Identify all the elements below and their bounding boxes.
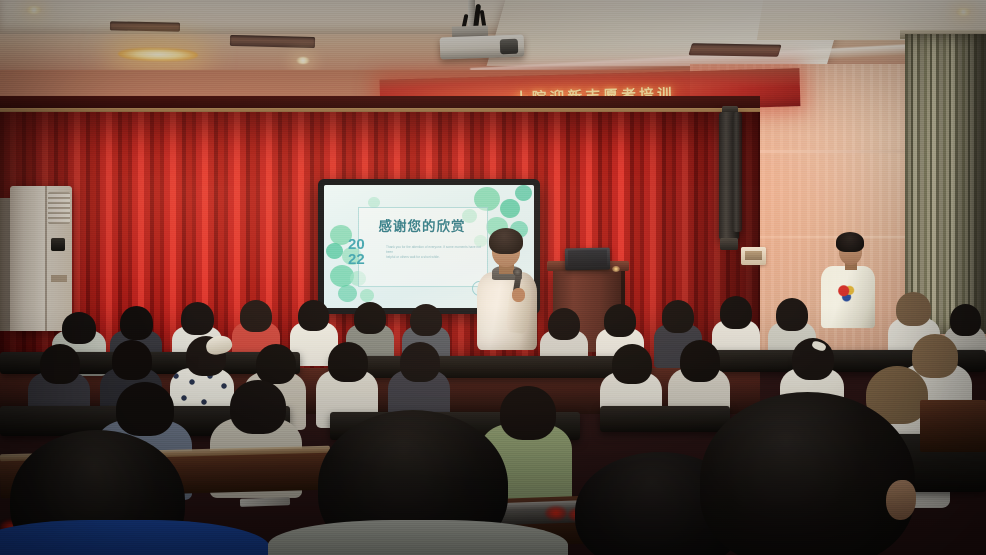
audience-head	[950, 304, 981, 336]
bench-mid	[600, 406, 730, 432]
window-drape-shadow	[953, 34, 986, 334]
audience-head	[548, 308, 580, 340]
air-conditioner-control-panel[interactable]	[51, 238, 65, 251]
pen-on-desk-left[interactable]	[240, 497, 290, 507]
bench-back	[330, 356, 650, 378]
slide-year-top: 20	[348, 237, 382, 252]
slide-body-line-2: helpful or others wait for a short while…	[386, 255, 482, 260]
bench-desk-right	[920, 400, 986, 452]
leaf-blob	[326, 243, 343, 259]
laptop-screen	[568, 250, 607, 267]
ceiling-trough-left	[110, 21, 180, 31]
audience-head	[40, 344, 80, 384]
downlight-icon	[26, 6, 42, 14]
projector-lens	[500, 39, 519, 55]
ceiling-trough-right	[688, 43, 781, 57]
slide-body-text: Thank you for the attention of everyone.…	[386, 245, 482, 260]
audience-head	[298, 300, 329, 331]
audience-head	[181, 302, 214, 335]
leaf-blob	[360, 289, 374, 302]
audience-head	[354, 302, 386, 334]
foreground-shoulders-center	[268, 520, 568, 555]
audience-head	[604, 304, 636, 337]
presenter-hair	[489, 228, 523, 254]
audience-head-blond	[912, 334, 958, 378]
presenter-hand	[512, 288, 525, 302]
audience-head	[720, 296, 752, 329]
audience-head	[240, 300, 272, 332]
leaf-blob	[500, 199, 520, 218]
foreground-shoulders-left	[0, 520, 270, 555]
audience-head	[776, 298, 808, 331]
audience-head-blond	[896, 292, 931, 326]
audience-head	[120, 306, 153, 340]
lectern-light-glint	[612, 266, 620, 272]
foreground-ear	[886, 480, 916, 520]
slide-body-line-1: Thank you for the attention of everyone.…	[386, 245, 482, 255]
audience-head	[400, 342, 440, 382]
audience-head	[662, 300, 694, 333]
downlight-icon-center	[296, 57, 310, 64]
tshirt-graphic-print	[836, 282, 858, 304]
audience-head	[62, 312, 96, 344]
audience-head	[612, 344, 652, 384]
slide-year-bottom: 22	[348, 252, 382, 267]
audience-head	[112, 340, 152, 380]
audience-head	[116, 382, 174, 436]
ceiling-trough-center	[230, 35, 315, 48]
line-array-speaker-secondary	[733, 112, 742, 232]
audience-head	[230, 380, 286, 434]
audience-head	[256, 344, 296, 384]
air-conditioner-grille	[48, 192, 70, 224]
foreground-head-right	[700, 392, 915, 555]
audience-head	[410, 304, 442, 336]
rail-red-reflection	[545, 506, 567, 520]
downlight-icon-right	[956, 8, 971, 16]
slide-title: 感谢您的欣赏	[364, 215, 480, 235]
audience-head	[328, 342, 368, 382]
air-conditioner-seam	[45, 186, 47, 331]
speaker-bottom-cap	[720, 238, 738, 250]
auditorium-photo: 十院迎新志愿者培训 感谢您的欣赏	[0, 0, 986, 555]
microphone-head	[513, 268, 522, 276]
slide-year: 20 22	[348, 237, 382, 267]
leaf-blob	[338, 285, 357, 302]
av-wall-plate-inset	[745, 251, 762, 260]
audience-head	[500, 386, 556, 440]
leaf-blob	[515, 185, 532, 201]
audience-head	[680, 340, 720, 382]
air-conditioner-logo	[51, 275, 67, 282]
standing-attendee-hair	[836, 232, 864, 252]
